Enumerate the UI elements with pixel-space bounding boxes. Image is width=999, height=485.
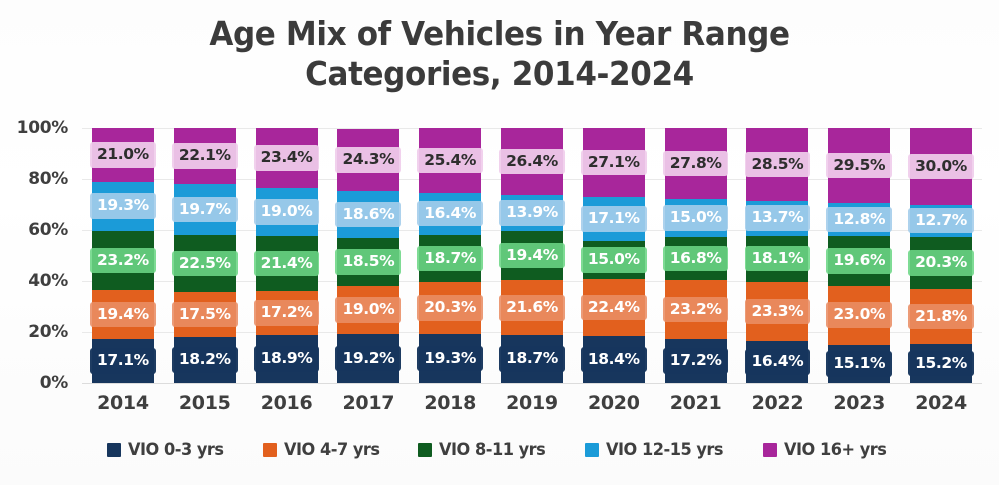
bar-segment-value-label: 18.9% (254, 346, 320, 372)
bar-segment[interactable]: 20.3% (910, 237, 972, 289)
bar-segment-value-label: 25.4% (417, 148, 483, 174)
bar-segment-value-label: 19.2% (335, 346, 401, 372)
bar-segment-value-label: 22.5% (172, 251, 238, 277)
bar-segment-value-label: 18.2% (172, 347, 238, 373)
bar-column[interactable]: 18.4%22.4%15.0%17.1%27.1% (583, 128, 645, 383)
bar-segment[interactable]: 19.7% (174, 184, 236, 234)
bar-column[interactable]: 19.3%20.3%18.7%16.4%25.4% (419, 128, 481, 383)
bar-segment-value-label: 17.5% (172, 302, 238, 328)
bar-segment-value-label: 17.2% (254, 300, 320, 326)
bar-segment-value-label: 21.4% (254, 251, 320, 277)
legend-swatch-icon (263, 443, 277, 457)
bar-segment[interactable]: 17.1% (583, 197, 645, 241)
bar-segment[interactable]: 18.4% (583, 336, 645, 383)
bar-column[interactable]: 15.2%21.8%20.3%12.7%30.0% (910, 128, 972, 383)
bar-segment-value-label: 21.6% (499, 295, 565, 321)
bar-segment-value-label: 18.1% (745, 246, 811, 272)
bar-segment-value-label: 22.4% (581, 295, 647, 321)
bar-segment-value-label: 17.2% (663, 348, 729, 374)
x-axis-tick-label: 2018 (419, 392, 481, 414)
bar-segment-value-label: 24.3% (335, 147, 401, 173)
bar-segment-value-label: 19.4% (90, 302, 156, 328)
bar-column[interactable]: 18.7%21.6%19.4%13.9%26.4% (501, 128, 563, 383)
legend-label: VIO 12-15 yrs (606, 440, 723, 460)
bar-segment-value-label: 15.0% (663, 205, 729, 231)
bar-segment-value-label: 19.4% (499, 243, 565, 269)
bar-segment-value-label: 18.4% (581, 347, 647, 373)
bar-segment-value-label: 26.4% (499, 149, 565, 175)
bar-column[interactable]: 17.1%19.4%23.2%19.3%21.0% (92, 128, 154, 383)
bar-segment[interactable]: 23.4% (256, 128, 318, 188)
y-axis-tick-label: 20% (28, 322, 68, 342)
x-axis-tick-label: 2023 (828, 392, 890, 414)
bar-segment[interactable]: 21.8% (910, 289, 972, 345)
bar-segment[interactable]: 16.4% (746, 341, 808, 383)
bar-segment-value-label: 13.7% (745, 205, 811, 231)
x-axis-tick-label: 2021 (665, 392, 727, 414)
bar-segment-value-label: 23.2% (90, 248, 156, 274)
bar-segment[interactable]: 17.2% (665, 339, 727, 383)
bar-segment[interactable]: 13.9% (501, 195, 563, 230)
bar-segment-value-label: 16.8% (663, 246, 729, 272)
y-axis-tick-label: 0% (40, 373, 68, 393)
bar-segment-value-label: 13.9% (499, 200, 565, 226)
y-axis-tick-label: 60% (28, 220, 68, 240)
bar-segment-value-label: 15.0% (581, 247, 647, 273)
bar-segment[interactable]: 16.4% (419, 193, 481, 235)
bar-segment-value-label: 21.0% (90, 142, 156, 168)
bar-segment[interactable]: 18.7% (501, 335, 563, 383)
bar-segment-value-label: 18.5% (335, 249, 401, 275)
bar-segment[interactable]: 19.3% (419, 334, 481, 383)
bar-segment-value-label: 15.1% (826, 351, 892, 377)
x-axis-tick-label: 2014 (92, 392, 154, 414)
bar-segment[interactable]: 19.0% (337, 286, 399, 334)
bar-segment[interactable]: 23.2% (92, 231, 154, 290)
legend-item[interactable]: VIO 0-3 yrs (107, 440, 229, 460)
chart-title-line-2: Categories, 2014-2024 (30, 54, 969, 94)
bar-segment[interactable]: 25.4% (419, 128, 481, 193)
y-axis-tick-label: 40% (28, 271, 68, 291)
bar-column[interactable]: 16.4%23.3%18.1%13.7%28.5% (746, 128, 808, 383)
bar-segment[interactable]: 15.0% (665, 199, 727, 237)
bar-segment[interactable]: 12.8% (828, 203, 890, 236)
bar-segment-value-label: 15.2% (908, 351, 974, 377)
bar-column[interactable]: 18.9%17.2%21.4%19.0%23.4% (256, 128, 318, 383)
chart-title-line-1: Age Mix of Vehicles in Year Range (30, 14, 969, 54)
bar-segment-value-label: 12.8% (826, 207, 892, 233)
legend-item[interactable]: VIO 8-11 yrs (418, 440, 551, 460)
bar-segment[interactable]: 19.4% (501, 231, 563, 280)
bar-segment[interactable]: 19.6% (828, 236, 890, 286)
bar-segment[interactable]: 29.5% (828, 128, 890, 203)
bar-column[interactable]: 19.2%19.0%18.5%18.6%24.3% (337, 128, 399, 383)
bar-segment-value-label: 20.3% (908, 250, 974, 276)
bar-segment[interactable]: 27.8% (665, 128, 727, 199)
bar-segment-value-label: 23.4% (254, 145, 320, 171)
bar-segment[interactable]: 19.2% (337, 334, 399, 383)
bar-segment[interactable]: 23.2% (665, 280, 727, 339)
legend-label: VIO 16+ yrs (784, 440, 886, 460)
bar-column[interactable]: 18.2%17.5%22.5%19.7%22.1% (174, 128, 236, 383)
bar-segment[interactable]: 19.0% (256, 188, 318, 236)
y-axis: 100%80%60%40%20%0% (0, 128, 76, 383)
legend-swatch-icon (585, 443, 599, 457)
bar-segment[interactable]: 18.6% (337, 191, 399, 238)
x-axis-tick-label: 2022 (746, 392, 808, 414)
bar-segment[interactable]: 22.1% (174, 128, 236, 184)
x-axis-tick-label: 2024 (910, 392, 972, 414)
bar-segment[interactable]: 30.0% (910, 128, 972, 205)
bar-segment-value-label: 30.0% (908, 154, 974, 180)
bar-segment[interactable]: 18.5% (337, 238, 399, 285)
bar-segment[interactable]: 21.6% (501, 280, 563, 335)
bar-segment[interactable]: 22.4% (583, 279, 645, 336)
legend-swatch-icon (418, 443, 432, 457)
bar-segment-value-label: 28.5% (745, 152, 811, 178)
bar-segment-value-label: 12.7% (908, 208, 974, 234)
legend-item[interactable]: VIO 12-15 yrs (585, 440, 729, 460)
bar-segment[interactable]: 12.7% (910, 205, 972, 237)
y-axis-tick-label: 100% (17, 118, 68, 138)
bar-segment-value-label: 29.5% (826, 153, 892, 179)
bar-segment-value-label: 27.1% (581, 150, 647, 176)
x-axis-tick-label: 2017 (337, 392, 399, 414)
chart-container: Age Mix of Vehicles in Year Range Catego… (0, 0, 999, 485)
bar-segment-value-label: 16.4% (745, 349, 811, 375)
bar-segment[interactable]: 21.0% (92, 128, 154, 182)
gridline (82, 383, 982, 384)
bar-segment-value-label: 17.1% (90, 348, 156, 374)
legend-item[interactable]: VIO 4-7 yrs (263, 440, 385, 460)
legend-label: VIO 4-7 yrs (284, 440, 380, 460)
bar-segment-value-label: 19.3% (90, 193, 156, 219)
bar-segment[interactable]: 18.9% (256, 335, 318, 383)
bar-segment-value-label: 17.1% (581, 206, 647, 232)
bar-segment[interactable]: 15.0% (583, 241, 645, 279)
legend-item[interactable]: VIO 16+ yrs (763, 440, 892, 460)
bar-segment[interactable]: 17.1% (92, 339, 154, 383)
bar-segment-value-label: 23.3% (745, 299, 811, 325)
bar-segment[interactable]: 26.4% (501, 128, 563, 195)
bar-segment-value-label: 18.7% (417, 246, 483, 272)
chart-legend: VIO 0-3 yrsVIO 4-7 yrsVIO 8-11 yrsVIO 12… (0, 440, 999, 460)
bar-segment[interactable]: 18.1% (746, 236, 808, 282)
legend-swatch-icon (107, 443, 121, 457)
bar-segment[interactable]: 15.2% (910, 344, 972, 383)
bar-segment[interactable]: 18.7% (419, 235, 481, 283)
bar-segment-value-label: 21.8% (908, 304, 974, 330)
bar-segment[interactable]: 24.3% (337, 129, 399, 191)
bar-segment[interactable]: 19.3% (92, 182, 154, 231)
bar-segment[interactable]: 28.5% (746, 128, 808, 201)
x-axis-tick-label: 2015 (174, 392, 236, 414)
bar-segment-value-label: 23.2% (663, 297, 729, 323)
bar-segment[interactable]: 22.5% (174, 235, 236, 292)
bar-segment[interactable]: 23.3% (746, 282, 808, 341)
legend-swatch-icon (763, 443, 777, 457)
bar-series-group: 17.1%19.4%23.2%19.3%21.0%18.2%17.5%22.5%… (82, 128, 982, 383)
bar-segment-value-label: 19.3% (417, 346, 483, 372)
bar-segment[interactable]: 19.4% (92, 290, 154, 339)
x-axis-tick-label: 2019 (501, 392, 563, 414)
x-axis-tick-label: 2020 (583, 392, 645, 414)
x-axis: 2014201520162017201820192020202120222023… (82, 386, 982, 420)
bar-segment[interactable]: 21.4% (256, 236, 318, 291)
bar-segment-value-label: 19.6% (826, 248, 892, 274)
bar-segment-value-label: 19.7% (172, 197, 238, 223)
bar-segment[interactable]: 13.7% (746, 201, 808, 236)
y-axis-tick-label: 80% (28, 169, 68, 189)
bar-segment-value-label: 18.6% (335, 202, 401, 228)
plot-area: 17.1%19.4%23.2%19.3%21.0%18.2%17.5%22.5%… (82, 128, 982, 383)
bar-segment[interactable]: 17.2% (256, 291, 318, 335)
legend-label: VIO 0-3 yrs (128, 440, 224, 460)
chart-title: Age Mix of Vehicles in Year Range Catego… (0, 14, 999, 95)
bar-column[interactable]: 15.1%23.0%19.6%12.8%29.5% (828, 128, 890, 383)
x-axis-tick-label: 2016 (256, 392, 318, 414)
bar-segment-value-label: 18.7% (499, 346, 565, 372)
bar-segment[interactable]: 20.3% (419, 282, 481, 334)
bar-segment[interactable]: 15.1% (828, 345, 890, 384)
bar-segment-value-label: 19.0% (335, 297, 401, 323)
bar-segment[interactable]: 18.2% (174, 337, 236, 383)
bar-segment-value-label: 16.4% (417, 201, 483, 227)
bar-segment[interactable]: 17.5% (174, 292, 236, 337)
bar-segment-value-label: 22.1% (172, 143, 238, 169)
bar-segment-value-label: 27.8% (663, 151, 729, 177)
bar-segment-value-label: 19.0% (254, 199, 320, 225)
legend-label: VIO 8-11 yrs (439, 440, 545, 460)
bar-segment[interactable]: 16.8% (665, 237, 727, 280)
bar-segment[interactable]: 27.1% (583, 128, 645, 197)
bar-segment[interactable]: 23.0% (828, 286, 890, 345)
bar-segment-value-label: 20.3% (417, 295, 483, 321)
bar-column[interactable]: 17.2%23.2%16.8%15.0%27.8% (665, 128, 727, 383)
bar-segment-value-label: 23.0% (826, 302, 892, 328)
